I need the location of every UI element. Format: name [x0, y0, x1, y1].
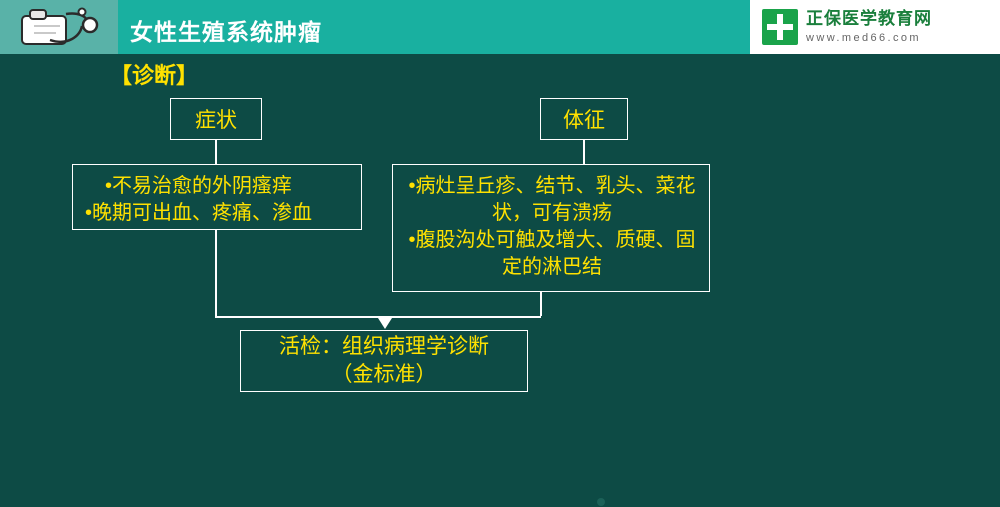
header-bar: 女性生殖系统肿瘤 正保医学教育网 www.med66.com	[0, 0, 1000, 54]
slide-body: 【诊断】 症状 体征 •不易治愈的外阴瘙痒 •晚期可出血、疼痛、渗血 •病灶呈丘…	[0, 54, 1000, 507]
header-logo-panel	[0, 0, 118, 54]
node-sign-label: 体征	[563, 104, 605, 134]
node-sign-detail-text: •病灶呈丘疹、结节、乳头、菜花状，可有溃疡 •腹股沟处可触及增大、质硬、固定的淋…	[403, 173, 701, 281]
arrow-head-icon	[378, 318, 392, 329]
connector-symptom-down	[215, 140, 217, 164]
brand-name: 正保医学教育网	[806, 9, 932, 29]
connector-sign-detail-down	[540, 292, 542, 316]
medical-cross-icon	[762, 9, 798, 45]
header-title: 女性生殖系统肿瘤	[130, 13, 322, 47]
node-symptom-detail-text: •不易治愈的外阴瘙痒 •晚期可出血、疼痛、渗血	[85, 173, 312, 227]
connector-symptom-detail-down	[215, 230, 217, 316]
node-biopsy-line1: 活检：组织病理学诊断	[279, 333, 489, 361]
stethoscope-clipboard-icon	[20, 6, 106, 50]
node-biopsy-line2: （金标准）	[332, 361, 437, 389]
node-sign-detail: •病灶呈丘疹、结节、乳头、菜花状，可有溃疡 •腹股沟处可触及增大、质硬、固定的淋…	[392, 164, 710, 292]
node-biopsy: 活检：组织病理学诊断 （金标准）	[240, 330, 528, 392]
connector-sign-down	[583, 140, 585, 164]
page-title: 【诊断】	[110, 58, 198, 90]
node-symptom: 症状	[170, 98, 262, 140]
node-symptom-detail: •不易治愈的外阴瘙痒 •晚期可出血、疼痛、渗血	[72, 164, 362, 230]
bottom-marker-dot	[597, 498, 605, 506]
brand-text: 正保医学教育网 www.med66.com	[806, 9, 932, 44]
node-sign: 体征	[540, 98, 628, 140]
brand-url: www.med66.com	[806, 32, 932, 45]
brand-block: 正保医学教育网 www.med66.com	[750, 0, 1000, 54]
node-symptom-label: 症状	[195, 104, 237, 134]
